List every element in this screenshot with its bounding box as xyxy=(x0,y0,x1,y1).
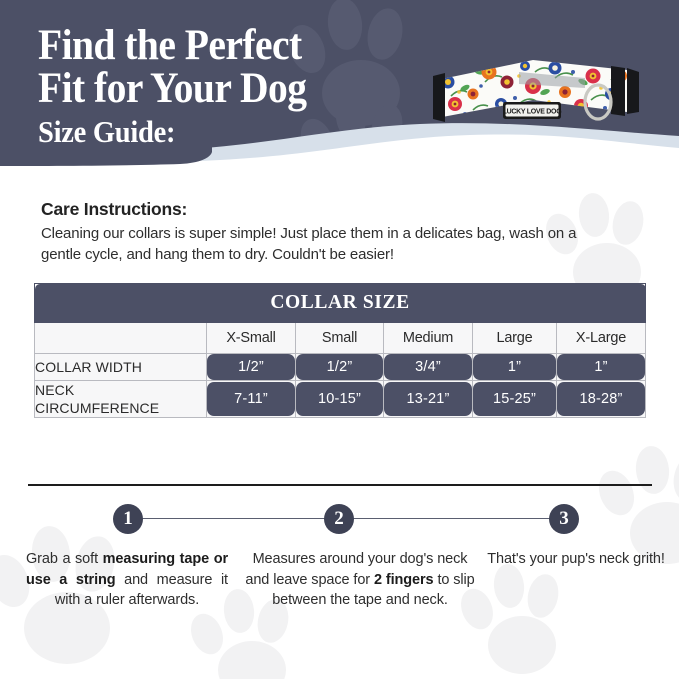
svg-text:LUCKY LOVE DOG: LUCKY LOVE DOG xyxy=(503,108,563,115)
table-cell: 1/2” xyxy=(207,354,296,381)
step-number-1: 1 xyxy=(113,504,143,534)
care-instructions-body: Cleaning our collars is super simple! Ju… xyxy=(41,224,603,265)
care-instructions-section: Care Instructions: Cleaning our collars … xyxy=(41,199,641,265)
column-header-small: Small xyxy=(296,323,384,354)
brand-label: LUCKY LOVE DOG xyxy=(503,102,563,119)
row-label-line1: NECK xyxy=(35,382,74,398)
value-neck-x-small: 7-11” xyxy=(207,382,295,416)
column-header-x-small: X-Small xyxy=(207,323,296,354)
table-cell: 3/4” xyxy=(384,354,473,381)
collar-size-table: COLLAR SIZE X-Small Small Medium Large X… xyxy=(34,283,645,418)
page-title-line1: Find the Perfect xyxy=(38,24,306,67)
value-neck-medium: 13-21” xyxy=(384,382,472,416)
table-cell: 10-15” xyxy=(296,381,384,418)
header-title-block: Find the Perfect Fit for Your Dog Size G… xyxy=(38,24,330,152)
value-neck-small: 10-15” xyxy=(296,382,383,416)
table-header-row: X-Small Small Medium Large X-Large xyxy=(35,323,646,354)
size-guide-infographic: Find the Perfect Fit for Your Dog Size G… xyxy=(0,0,679,679)
table-cell: 1/2” xyxy=(296,354,384,381)
value-collar-width-large: 1” xyxy=(473,354,556,380)
steps-text-row: Grab a soft measuring tape or use a stri… xyxy=(0,549,679,611)
table-cell: 13-21” xyxy=(384,381,473,418)
value-collar-width-medium: 3/4” xyxy=(384,354,472,380)
value-collar-width-x-large: 1” xyxy=(557,354,645,380)
value-collar-width-small: 1/2” xyxy=(296,354,383,380)
step-description-1: Grab a soft measuring tape or use a stri… xyxy=(16,549,238,611)
row-label-line2: CIRCUMFERENCE xyxy=(35,400,159,416)
row-label-collar-width: COLLAR WIDTH xyxy=(35,354,207,381)
table-title: COLLAR SIZE xyxy=(35,284,646,323)
step-description-2: Measures around your dog's neck and leav… xyxy=(240,549,480,611)
table-cell: 15-25” xyxy=(473,381,557,418)
column-header-blank xyxy=(35,323,207,354)
care-instructions-title: Care Instructions: xyxy=(41,199,641,220)
step-description-3: That's your pup's neck grith! xyxy=(486,549,666,611)
table-row: NECKCIRCUMFERENCE 7-11” 10-15” 13-21” 15… xyxy=(35,381,646,418)
table-cell: 1” xyxy=(557,354,646,381)
value-collar-width-x-small: 1/2” xyxy=(207,354,295,380)
row-label-neck-circumference: NECKCIRCUMFERENCE xyxy=(35,381,207,418)
step-number-2: 2 xyxy=(324,504,354,534)
table-cell: 18-28” xyxy=(557,381,646,418)
page-subtitle: Size Guide: xyxy=(38,112,306,152)
page-title-line2: Fit for Your Dog xyxy=(38,67,306,110)
value-neck-x-large: 18-28” xyxy=(557,382,645,416)
table-title-row: COLLAR SIZE xyxy=(35,284,646,323)
table-cell: 1” xyxy=(473,354,557,381)
section-divider xyxy=(28,484,652,486)
product-image-collar: LUCKY LOVE DOG xyxy=(415,42,660,142)
column-header-x-large: X-Large xyxy=(557,323,646,354)
table-cell: 7-11” xyxy=(207,381,296,418)
column-header-medium: Medium xyxy=(384,323,473,354)
column-header-large: Large xyxy=(473,323,557,354)
table-row: COLLAR WIDTH 1/2” 1/2” 3/4” 1” 1” xyxy=(35,354,646,381)
step-number-3: 3 xyxy=(549,504,579,534)
value-neck-large: 15-25” xyxy=(473,382,556,416)
